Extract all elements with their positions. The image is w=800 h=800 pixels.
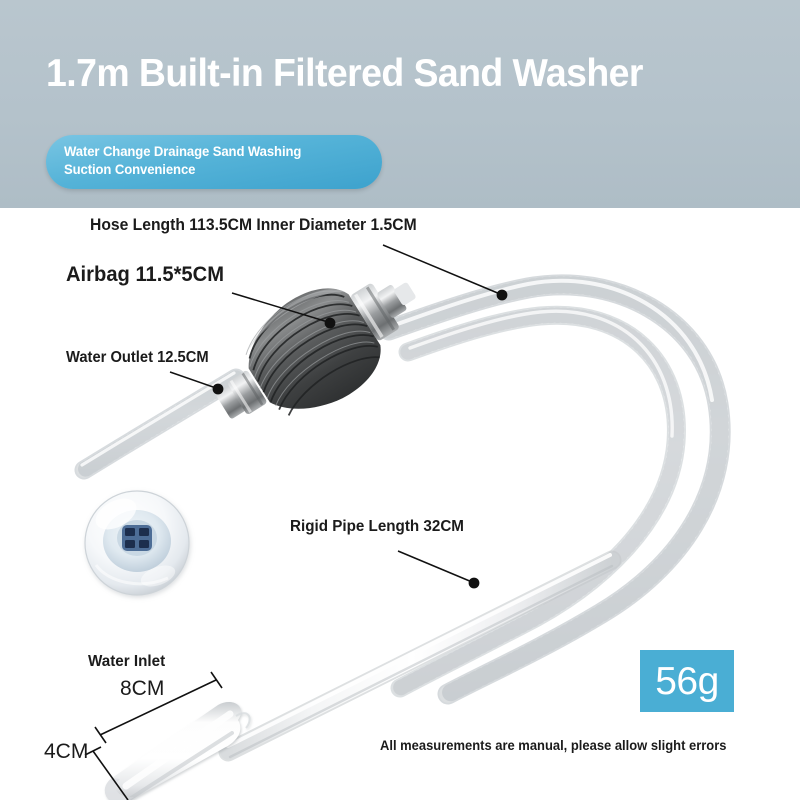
dimension-label-length: 8CM — [120, 677, 164, 701]
badge-line-1: Water Change Drainage Sand Washing — [64, 143, 372, 161]
callout-water-outlet: Water Outlet 12.5CM — [66, 349, 209, 367]
badge-line-2: Suction Convenience — [64, 161, 372, 179]
callout-rigid-pipe: Rigid Pipe Length 32CM — [290, 518, 464, 536]
weight-badge: 56g — [640, 650, 734, 712]
dimension-label-width: 4CM — [44, 740, 88, 764]
callout-airbag: Airbag 11.5*5CM — [66, 263, 224, 287]
header-feature-badge: Water Change Drainage Sand Washing Sucti… — [46, 135, 382, 189]
page-title: 1.7m Built-in Filtered Sand Washer — [46, 52, 643, 97]
weight-value: 56g — [655, 662, 719, 701]
measurement-disclaimer: All measurements are manual, please allo… — [380, 738, 726, 753]
callout-hose-length: Hose Length 113.5CM Inner Diameter 1.5CM — [90, 216, 417, 235]
callout-water-inlet: Water Inlet — [88, 653, 165, 671]
header-band: 1.7m Built-in Filtered Sand Washer Water… — [0, 0, 800, 208]
product-infographic: 1.7m Built-in Filtered Sand Washer Water… — [0, 0, 800, 800]
